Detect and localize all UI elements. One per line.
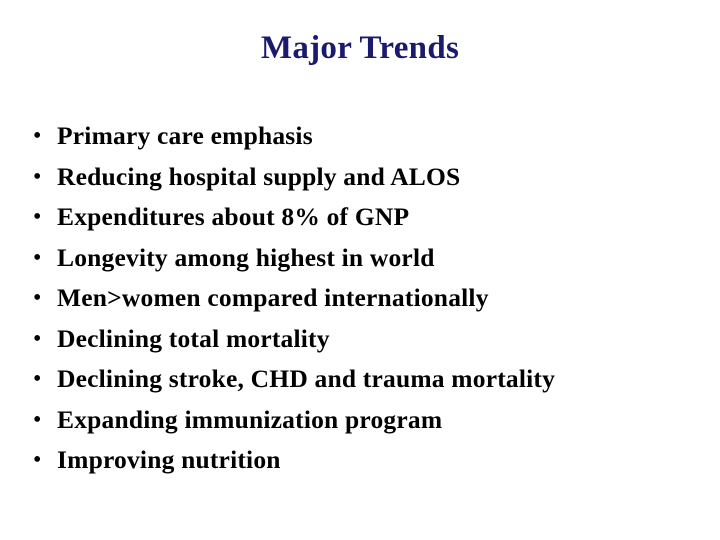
list-item-label: Reducing hospital supply and ALOS [57,157,460,198]
bullet-point-icon: • [33,319,47,360]
presentation-slide: Major Trends • Primary care emphasis • R… [0,0,720,540]
bullet-point-icon: • [33,238,47,279]
list-item-label: Longevity among highest in world [57,238,435,279]
list-item-label: Expanding immunization program [57,400,442,441]
list-item: • Declining stroke, CHD and trauma morta… [28,359,692,400]
bullet-point-icon: • [33,197,47,238]
list-item: • Declining total mortality [28,319,692,360]
list-item-label: Declining total mortality [57,319,330,360]
list-item: • Expenditures about 8% of GNP [28,197,692,238]
page-title: Major Trends [0,28,720,68]
bullet-point-icon: • [33,116,47,157]
list-item: • Expanding immunization program [28,400,692,441]
list-item: • Longevity among highest in world [28,238,692,279]
bullet-point-icon: • [33,440,47,481]
bullet-point-icon: • [33,400,47,441]
bullet-point-icon: • [33,359,47,400]
bullet-point-icon: • [33,278,47,319]
list-item: • Men>women compared internationally [28,278,692,319]
list-item-label: Declining stroke, CHD and trauma mortali… [57,359,555,400]
list-item: • Primary care emphasis [28,116,692,157]
list-item-label: Men>women compared internationally [57,278,489,319]
list-item-label: Expenditures about 8% of GNP [57,197,409,238]
bullet-point-icon: • [33,157,47,198]
list-item-label: Primary care emphasis [57,116,313,157]
list-item-label: Improving nutrition [57,440,281,481]
list-item: • Improving nutrition [28,440,692,481]
bullet-list: • Primary care emphasis • Reducing hospi… [28,116,692,481]
list-item: • Reducing hospital supply and ALOS [28,157,692,198]
